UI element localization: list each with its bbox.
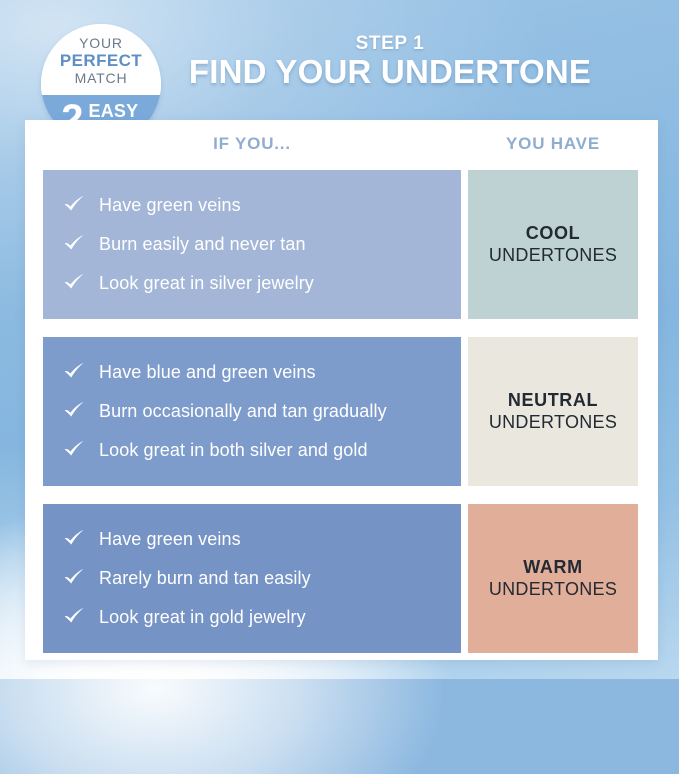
list-item: Have blue and green veins <box>63 360 443 385</box>
criteria-text: Look great in both silver and gold <box>99 438 368 463</box>
list-item: Burn occasionally and tan gradually <box>63 399 443 424</box>
badge-line-match: MATCH <box>75 70 128 86</box>
undertone-name: WARM <box>523 556 582 578</box>
criteria-text: Look great in silver jewelry <box>99 271 314 296</box>
list-item: Look great in silver jewelry <box>63 271 443 296</box>
check-icon <box>63 273 85 291</box>
table-row: Have blue and green veins Burn occasiona… <box>43 337 640 486</box>
undertone-swatch: COOL UNDERTONES <box>468 170 638 319</box>
criteria-panel: Have blue and green veins Burn occasiona… <box>43 337 461 486</box>
criteria-text: Have green veins <box>99 193 241 218</box>
check-icon <box>63 362 85 380</box>
undertone-sublabel: UNDERTONES <box>489 244 617 267</box>
list-item: Look great in gold jewelry <box>63 605 443 630</box>
content-card: IF YOU... YOU HAVE Have green veins Burn… <box>25 120 658 660</box>
badge-line-your: YOUR <box>79 36 123 51</box>
list-item: Have green veins <box>63 193 443 218</box>
criteria-text: Have green veins <box>99 527 241 552</box>
undertone-sublabel: UNDERTONES <box>489 411 617 434</box>
check-icon <box>63 401 85 419</box>
check-icon <box>63 568 85 586</box>
list-item: Look great in both silver and gold <box>63 438 443 463</box>
check-icon <box>63 234 85 252</box>
check-icon <box>63 607 85 625</box>
check-icon <box>63 440 85 458</box>
list-item: Have green veins <box>63 527 443 552</box>
criteria-text: Burn occasionally and tan gradually <box>99 399 387 424</box>
list-item: Burn easily and never tan <box>63 232 443 257</box>
list-item: Rarely burn and tan easily <box>63 566 443 591</box>
undertone-swatch: WARM UNDERTONES <box>468 504 638 653</box>
undertone-name: COOL <box>526 222 580 244</box>
criteria-text: Rarely burn and tan easily <box>99 566 311 591</box>
criteria-panel: Have green veins Burn easily and never t… <box>43 170 461 319</box>
criteria-text: Burn easily and never tan <box>99 232 306 257</box>
badge-top-half: YOUR PERFECT MATCH <box>41 24 161 95</box>
criteria-panel: Have green veins Rarely burn and tan eas… <box>43 504 461 653</box>
criteria-text: Have blue and green veins <box>99 360 316 385</box>
column-header-you-have: YOU HAVE <box>468 134 638 154</box>
column-header-if-you: IF YOU... <box>43 134 461 154</box>
step-label: STEP 1 <box>170 33 610 55</box>
table-row: Have green veins Rarely burn and tan eas… <box>43 504 640 653</box>
undertone-sublabel: UNDERTONES <box>489 578 617 601</box>
page-title: FIND YOUR UNDERTONE <box>160 53 620 91</box>
criteria-text: Look great in gold jewelry <box>99 605 306 630</box>
table-row: Have green veins Burn easily and never t… <box>43 170 640 319</box>
undertone-table: Have green veins Burn easily and never t… <box>43 170 640 653</box>
undertone-swatch: NEUTRAL UNDERTONES <box>468 337 638 486</box>
check-icon <box>63 195 85 213</box>
check-icon <box>63 529 85 547</box>
badge-line-perfect: PERFECT <box>60 51 142 70</box>
badge-label-easy: EASY <box>89 103 139 120</box>
undertone-name: NEUTRAL <box>508 389 598 411</box>
